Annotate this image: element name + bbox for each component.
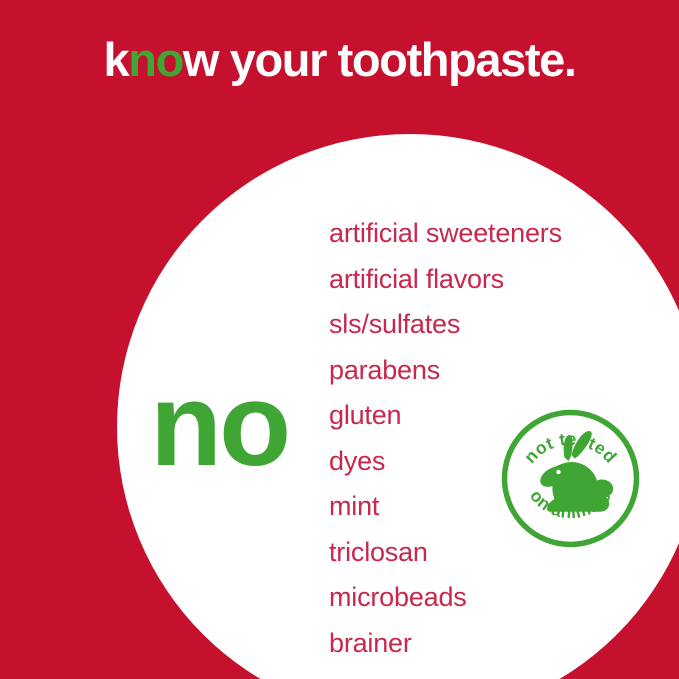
- cruelty-free-badge: not tested on animals: [500, 408, 641, 549]
- list-item: sls/sulfates: [329, 302, 629, 348]
- list-item: brainer: [329, 621, 629, 667]
- list-item: artificial flavors: [329, 257, 629, 303]
- headline-part-3: w your toothpaste.: [183, 33, 576, 86]
- page-title: know your toothpaste.: [0, 36, 679, 83]
- headline-part-1: k: [104, 33, 129, 86]
- list-item: microbeads: [329, 575, 629, 621]
- list-item: artificial sweeteners: [329, 211, 629, 257]
- big-no-word: no: [150, 366, 330, 484]
- badge-svg: not tested on animals: [500, 408, 641, 549]
- list-item: parabens: [329, 348, 629, 394]
- poster-canvas: know your toothpaste. no artificial swee…: [0, 0, 679, 679]
- headline-part-2-green: no: [128, 33, 183, 86]
